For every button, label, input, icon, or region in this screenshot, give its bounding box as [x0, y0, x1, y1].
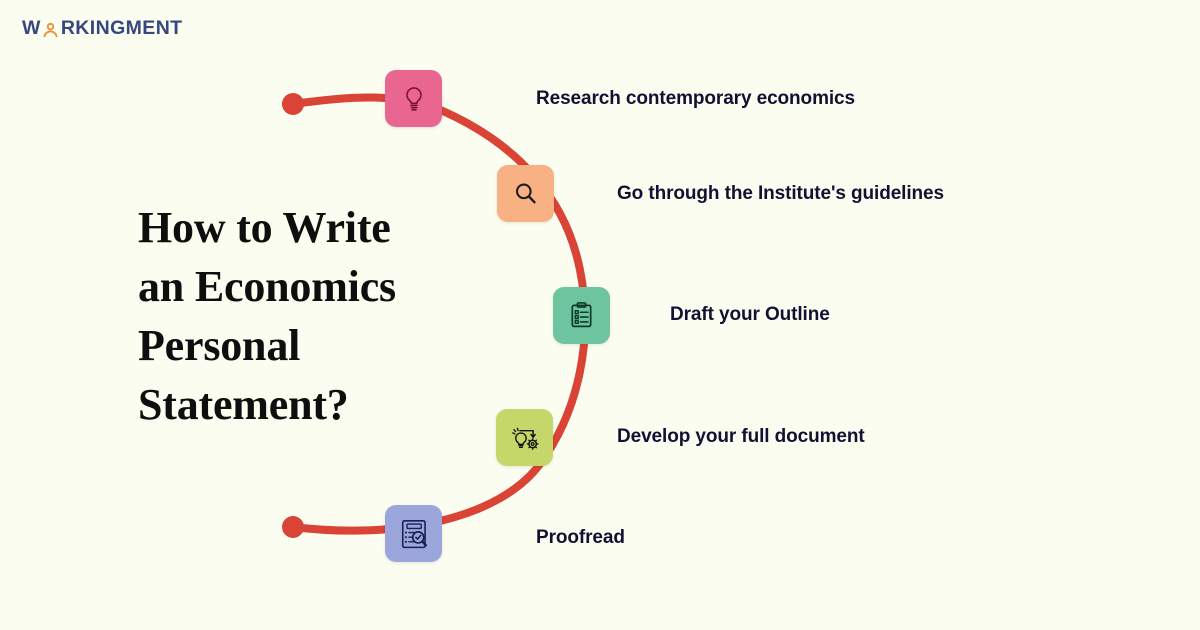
title-line-4: Statement? — [138, 375, 468, 434]
step-icon-tile-3[interactable] — [553, 287, 610, 344]
step-label-2: Go through the Institute's guidelines — [617, 183, 944, 206]
page-title: How to Write an Economics Personal State… — [138, 198, 468, 434]
arc-end-dot — [282, 516, 304, 538]
arc-start-dot — [282, 93, 304, 115]
logo-wordmark: WRKINGMENT — [22, 19, 183, 39]
step-icon-tile-1[interactable] — [385, 70, 442, 127]
step-label-4: Develop your full document — [617, 426, 865, 449]
logo-text-after: RKINGMENT — [61, 19, 183, 39]
title-line-3: Personal — [138, 316, 468, 375]
step-label-3: Draft your Outline — [670, 304, 830, 327]
clipboard-checklist-icon — [567, 301, 596, 330]
magnifier-search-icon — [511, 179, 540, 208]
title-line-2: an Economics — [138, 257, 468, 316]
lightbulb-icon — [399, 84, 429, 114]
document-review-magnifier-icon — [397, 517, 431, 551]
infographic-canvas: WRKINGMENT How to Write an Economics Per… — [0, 0, 1200, 630]
workingment-logo[interactable]: WRKINGMENT — [22, 14, 183, 44]
lightbulb-gear-process-icon — [507, 420, 543, 456]
person-avatar-icon — [41, 20, 60, 39]
title-line-1: How to Write — [138, 198, 468, 257]
step-icon-tile-4[interactable] — [496, 409, 553, 466]
step-label-1: Research contemporary economics — [536, 88, 855, 111]
logo-text-before: W — [22, 19, 41, 39]
step-icon-tile-5[interactable] — [385, 505, 442, 562]
step-icon-tile-2[interactable] — [497, 165, 554, 222]
step-label-5: Proofread — [536, 527, 625, 550]
